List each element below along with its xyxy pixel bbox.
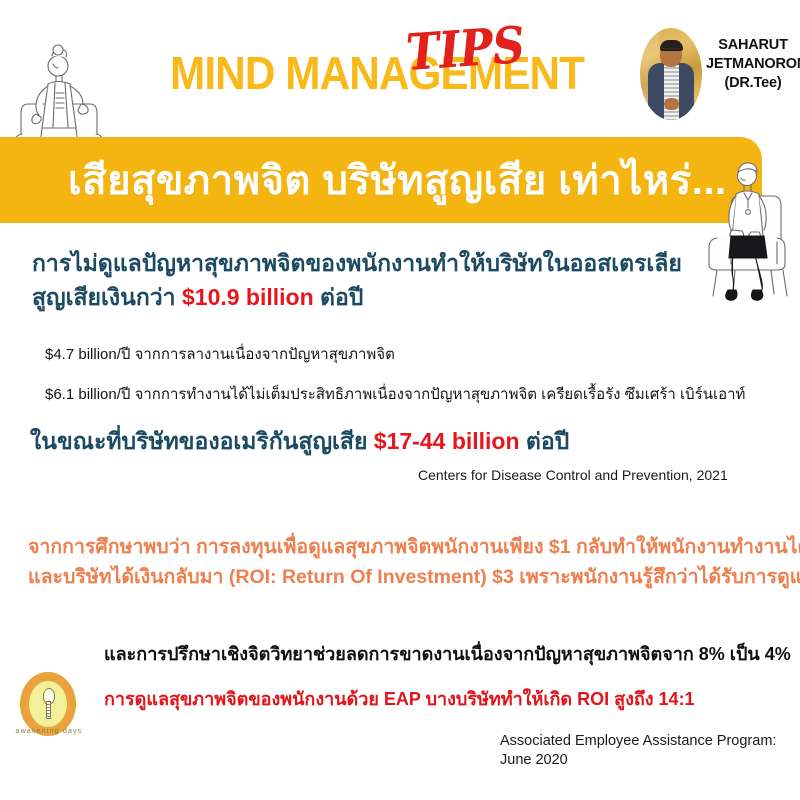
speaker-portrait: [640, 28, 702, 120]
awakening-days-logo: awakening days: [10, 668, 88, 756]
lead-paragraph: การไม่ดูแลปัญหาสุขภาพจิตของพนักงานทำให้บ…: [32, 246, 752, 314]
lead-line-1: การไม่ดูแลปัญหาสุขภาพจิตของพนักงานทำให้บ…: [32, 246, 752, 280]
us-amount-highlight: $17-44 billion: [374, 428, 520, 454]
speaker-name-first: SAHARUT: [706, 36, 800, 55]
photo-striped-shirt: [664, 65, 679, 120]
us-companies-line: ในขณะที่บริษัทของอเมริกันสูญเสีย $17-44 …: [30, 425, 750, 457]
photo-hands: [664, 98, 679, 110]
source-cdc: Centers for Disease Control and Preventi…: [418, 466, 778, 484]
eap-roi-line: การดูแลสุขภาพจิตของพนักงานด้วย EAP บางบร…: [104, 686, 784, 712]
logo-caption: awakening days: [10, 728, 88, 735]
speaker-name-nick: (DR.Tee): [706, 74, 800, 93]
roi-line-2: และบริษัทได้เงินกลับมา (ROI: Return Of I…: [28, 562, 776, 592]
lead-line-2-post: ต่อปี: [314, 284, 364, 310]
source-aeap: Associated Employee Assistance Program: …: [500, 732, 790, 770]
bullet-item-presenteeism: $6.1 billion/ปี จากการทำงานได้ไม่เต็มประ…: [45, 385, 785, 405]
us-line-post: ต่อปี: [520, 428, 570, 454]
lead-line-2-pre: สูญเสียเงินกว่า: [32, 284, 182, 310]
lead-amount-highlight: $10.9 billion: [182, 284, 314, 310]
speaker-name-last: JETMANOROM: [706, 55, 800, 74]
brand-title: MIND MANAGEMENT: [170, 38, 630, 96]
logo-bulb-stem: [46, 701, 51, 719]
speaker-photo-image: [640, 28, 702, 120]
speaker-name: SAHARUT JETMANOROM (DR.Tee): [706, 36, 800, 93]
poster-headline: เสียสุขภาพจิต บริษัทสูญเสีย เท่าไหร่...: [68, 145, 728, 217]
glasses-icon: [661, 48, 681, 54]
us-line-pre: ในขณะที่บริษัทของอเมริกันสูญเสีย: [30, 428, 374, 454]
roi-orange-paragraph: จากการศึกษาพบว่า การลงทุนเพื่อดูแลสุขภาพ…: [28, 532, 776, 592]
brand-tips-text: TIPS: [405, 20, 526, 78]
lead-line-2: สูญเสียเงินกว่า $10.9 billion ต่อปี: [32, 280, 752, 314]
bullet-item-absenteeism: $4.7 billion/ปี จากการลางานเนื่องจากปัญห…: [45, 345, 745, 365]
counselling-absence-line: และการปรึกษาเชิงจิตวิทยาช่วยลดการขาดงานเ…: [104, 641, 784, 667]
poster-canvas: MIND MANAGEMENT TIPS SAHARUT JETMANOROM …: [0, 0, 800, 800]
roi-line-1: จากการศึกษาพบว่า การลงทุนเพื่อดูแลสุขภาพ…: [28, 532, 776, 562]
